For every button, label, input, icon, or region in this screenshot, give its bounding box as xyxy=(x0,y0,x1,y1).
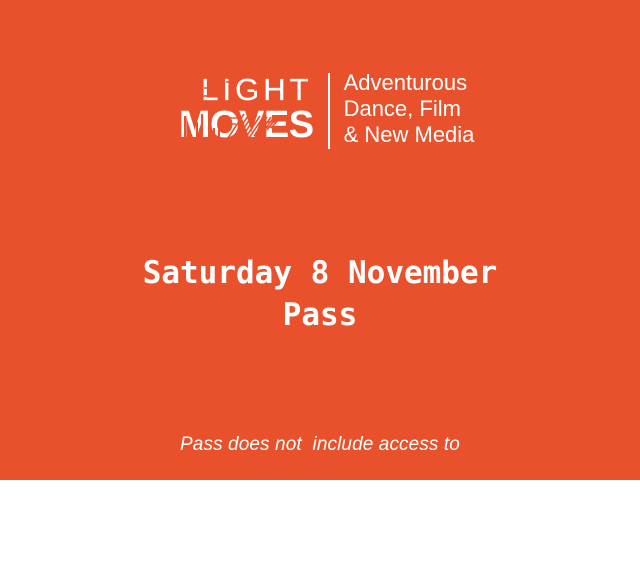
pass-title-line-2: Pass xyxy=(0,294,640,336)
pass-title: Saturday 8 November Pass xyxy=(0,252,640,336)
tagline-line-1: Adventurous xyxy=(344,70,475,96)
pass-note-line-1: Pass does not include access to xyxy=(0,432,640,457)
tagline-line-2: Dance, Film xyxy=(344,96,475,122)
pass-exclusion-note: Pass does not include access to Ways of … xyxy=(0,382,640,582)
logo-word-light: LIGHT xyxy=(166,74,314,105)
poster-canvas: LIGHT MOVES xyxy=(0,0,640,480)
logo-wordmark: LIGHT MOVES xyxy=(166,70,314,144)
logo-divider-rule xyxy=(328,73,330,149)
logo-tagline: Adventurous Dance, Film & New Media xyxy=(344,70,475,148)
logo-word-moves: MOVES xyxy=(166,106,314,144)
light-moves-logo: LIGHT MOVES xyxy=(0,70,640,149)
pass-title-line-1: Saturday 8 November xyxy=(0,252,640,294)
tagline-line-3: & New Media xyxy=(344,122,475,148)
pass-note-line-2: Ways of Doing Things at Belltable xyxy=(0,507,640,532)
